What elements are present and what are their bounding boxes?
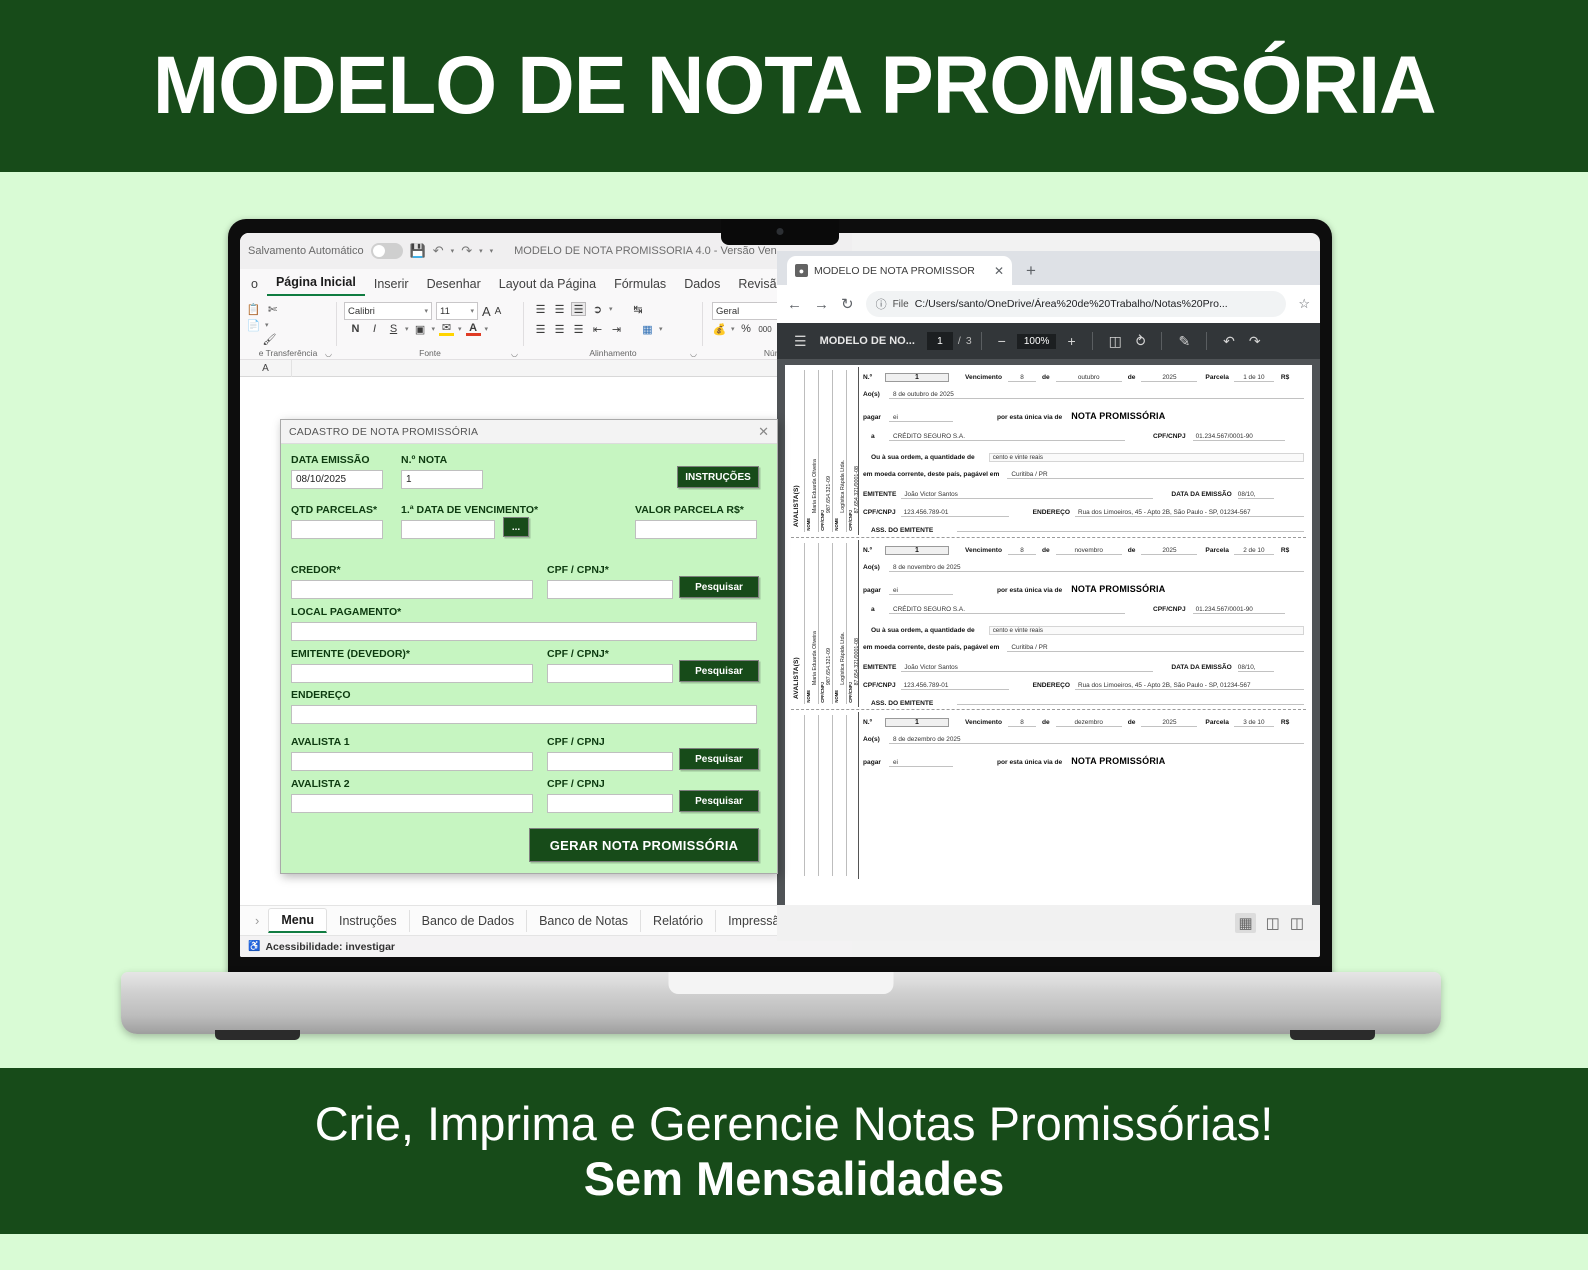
- via-text: por esta única via de: [997, 587, 1062, 594]
- font-name-value: Calibri: [348, 306, 375, 317]
- sheet-tab-menu[interactable]: Menu: [268, 908, 327, 933]
- rotate-icon[interactable]: ⥁: [1129, 333, 1153, 350]
- label-valor-parcela: VALOR PARCELA R$*: [635, 504, 744, 516]
- ribbon-tab-inserir[interactable]: Inserir: [365, 277, 418, 296]
- undo-chevron-down-icon[interactable]: ▾: [451, 247, 455, 255]
- zoom-level[interactable]: 100%: [1017, 334, 1057, 349]
- endereco-label: ENDEREÇO: [1033, 682, 1070, 689]
- orientation-icon[interactable]: ➲: [590, 302, 605, 316]
- laptop-screen: Salvamento Automático 💾 ↶ ▾ ↷ ▾ ▾ MODELO…: [240, 233, 1320, 957]
- customize-quick-access-icon[interactable]: ▾: [490, 247, 494, 255]
- moeda-label: em moeda corrente, deste país, pagável e…: [863, 644, 999, 651]
- aos-value: 8 de dezembro de 2025: [889, 736, 1304, 744]
- currency-label: R$: [1281, 547, 1289, 554]
- hamburger-menu-icon[interactable]: ☰: [787, 333, 814, 350]
- label-avalista-1-cpf: CPF / CPNJ: [547, 736, 605, 748]
- n-label: N.º: [863, 719, 885, 726]
- label-local-pagamento: LOCAL PAGAMENTO*: [291, 606, 401, 618]
- vencimento-ano: 2025: [1141, 547, 1197, 555]
- de-label-2: de: [1128, 547, 1136, 554]
- laptop-lid: Salvamento Automático 💾 ↶ ▾ ↷ ▾ ▾ MODELO…: [228, 219, 1332, 984]
- aos-label: Ao(s): [863, 391, 889, 398]
- redo-icon[interactable]: ↷: [1242, 333, 1268, 350]
- input-qtd-parcelas[interactable]: [291, 520, 383, 539]
- vencimento-label: Vencimento: [965, 547, 1002, 554]
- ink-annotate-icon[interactable]: ✎: [1171, 333, 1197, 350]
- laptop-base: [121, 972, 1441, 1034]
- label-primeira-data-vencimento: 1.ª DATA DE VENCIMENTO*: [401, 504, 538, 516]
- currency-label: R$: [1281, 374, 1289, 381]
- forward-arrow-icon[interactable]: →: [814, 296, 829, 313]
- vencimento-dia: 8: [1008, 719, 1036, 727]
- accessibility-status-text[interactable]: Acessibilidade: investigar: [265, 941, 395, 953]
- input-avalista-2[interactable]: [291, 794, 533, 813]
- label-endereco: ENDEREÇO: [291, 689, 351, 701]
- avalistas-column: AVALISTA(S) NOME Maria Eduarda Oliveira …: [793, 540, 859, 707]
- vencimento-ano: 2025: [1141, 374, 1197, 382]
- ribbon-divider: [523, 302, 524, 346]
- endereco-value: Rua dos Limoeiros, 45 - Apto 2B, São Pau…: [1075, 509, 1304, 517]
- page-title: MODELO DE NOTA PROMISSÓRIA: [153, 45, 1436, 127]
- avalista-2-cpf-value: 87.654.321/0001-08: [854, 638, 860, 685]
- currency-label: R$: [1281, 719, 1289, 726]
- font-name-combo[interactable]: Calibri ▾: [344, 302, 432, 320]
- toolbar-divider: [1092, 332, 1093, 350]
- page-total: 3: [966, 335, 972, 347]
- column-header-a[interactable]: A: [240, 360, 292, 377]
- n-value: 1: [885, 373, 949, 382]
- ribbon-tab-formulas[interactable]: Fórmulas: [605, 277, 675, 296]
- paste-chevron-down-icon[interactable]: ▾: [265, 321, 269, 329]
- parcela-value: 1 de 10: [1234, 374, 1274, 382]
- pesquisar-credor-button[interactable]: Pesquisar: [679, 576, 759, 598]
- avalista-2-nome-key: NOME: [834, 518, 839, 531]
- ribbon-divider: [336, 302, 337, 346]
- input-emitente-cpf[interactable]: [547, 664, 673, 683]
- data-emissao-label: DATA DA EMISSÃO: [1171, 491, 1231, 498]
- pdf-viewer-toolbar: ☰ MODELO DE NO... 1 / 3 − 100% + ◫ ⥁ ✎ ↶: [777, 323, 1320, 359]
- de-label-2: de: [1128, 374, 1136, 381]
- endereco-label: ENDEREÇO: [1033, 509, 1070, 516]
- tagline-line-1: Crie, Imprima e Gerencie Notas Promissór…: [315, 1096, 1274, 1151]
- moeda-value: Curitiba / PR: [1007, 644, 1304, 652]
- emitente-value: João Victor Santos: [901, 664, 1153, 672]
- emitente-cpf-value: 123.456.789-01: [901, 682, 1009, 690]
- close-icon[interactable]: ✕: [758, 424, 769, 440]
- aos-label: Ao(s): [863, 736, 889, 743]
- borders-icon[interactable]: ▣: [413, 322, 428, 336]
- fill-color-chevron-down-icon[interactable]: ▾: [458, 325, 462, 333]
- laptop-foot-left: [215, 1030, 300, 1040]
- decrease-indent-icon[interactable]: ⇤: [590, 322, 605, 336]
- laptop-mockup: Salvamento Automático 💾 ↶ ▾ ↷ ▾ ▾ MODELO…: [0, 172, 1588, 1068]
- font-size-value: 11: [440, 306, 450, 317]
- toolbar-divider: [1206, 332, 1207, 350]
- avalistas-title: AVALISTA(S): [793, 419, 800, 527]
- single-page-view-icon[interactable]: ◫: [1290, 914, 1304, 932]
- laptop-foot-right: [1290, 1030, 1375, 1040]
- pagar-value: ei: [889, 587, 953, 595]
- avalista-1-nome-key: NOME: [806, 518, 811, 531]
- orientation-chevron-down-icon[interactable]: ▾: [609, 305, 613, 313]
- label-emitente-cpf: CPF / CPNJ*: [547, 648, 609, 660]
- emitente-value: João Victor Santos: [901, 491, 1153, 499]
- via-text: por esta única via de: [997, 414, 1062, 421]
- label-credor-cpf: CPF / CPNJ*: [547, 564, 609, 576]
- data-emissao-label: DATA DA EMISSÃO: [1171, 664, 1231, 671]
- excel-document-title: MODELO DE NOTA PROMISSORIA 4.0 - Versão …: [514, 245, 786, 257]
- undo-icon[interactable]: ↶: [433, 243, 444, 259]
- ribbon-group-clipboard: 📋 ✄ 📄 ▾ 🖌 e Transferência ◡: [242, 296, 334, 360]
- autosave-toggle[interactable]: [371, 243, 403, 259]
- font-color-chevron-down-icon[interactable]: ▾: [485, 325, 489, 333]
- avalista-1-nome-key: NOME: [806, 690, 811, 703]
- parcela-value: 3 de 10: [1234, 719, 1274, 727]
- n-value: 1: [885, 718, 949, 727]
- avalistas-title: AVALISTA(S): [793, 591, 800, 699]
- toolbar-divider: [1161, 332, 1162, 350]
- plus-icon[interactable]: +: [1060, 333, 1082, 349]
- percent-format-icon[interactable]: %: [739, 322, 754, 336]
- column-headers: A: [240, 360, 852, 377]
- ribbon-tab-pagina-inicial[interactable]: Página Inicial: [267, 275, 365, 296]
- ordem-value: cento e vinte reais: [989, 626, 1304, 635]
- input-primeira-data-vencimento[interactable]: [401, 520, 495, 539]
- ribbon-tab-desenhar[interactable]: Desenhar: [418, 277, 490, 296]
- credor-cpf-label: CPF/CNPJ: [1153, 606, 1186, 613]
- aos-label: Ao(s): [863, 564, 889, 571]
- cadastro-dialog: CADASTRO DE NOTA PROMISSÓRIA ✕ DATA EMIS…: [280, 419, 778, 874]
- webcam-icon: [777, 228, 784, 235]
- promissory-note-3: N.º 1 Vencimento 8 de dezembro de 2025 P: [791, 709, 1306, 881]
- data-emissao-value: 08/10,: [1238, 491, 1274, 499]
- label-emitente: EMITENTE (DEVEDOR)*: [291, 648, 410, 660]
- chevron-down-icon: ▾: [424, 307, 428, 315]
- underline-button[interactable]: S: [386, 322, 401, 336]
- date-picker-button[interactable]: ...: [503, 517, 529, 537]
- bold-button[interactable]: N: [348, 322, 363, 336]
- redo-icon[interactable]: ↷: [461, 243, 472, 259]
- input-emitente[interactable]: [291, 664, 533, 683]
- pagar-label: pagar: [863, 587, 889, 594]
- parcela-value: 2 de 10: [1234, 547, 1274, 555]
- sheet-tab-bar: › Menu Instruções Banco de Dados Banco d…: [240, 905, 852, 935]
- input-avalista-2-cpf[interactable]: [547, 794, 673, 813]
- de-label-1: de: [1042, 719, 1050, 726]
- data-emissao-value: 08/10,: [1238, 664, 1274, 672]
- parcela-label: Parcela: [1205, 719, 1228, 726]
- ordem-value: cento e vinte reais: [989, 453, 1304, 462]
- avalista-1-cpf-key: CPF/CNPJ: [820, 682, 825, 703]
- label-avalista-2-cpf: CPF / CPNJ: [547, 778, 605, 790]
- n-value: 1: [885, 546, 949, 555]
- sheet-tab-instrucoes[interactable]: Instruções: [327, 910, 410, 932]
- promissory-note-2: AVALISTA(S) NOME Maria Eduarda Oliveira …: [791, 537, 1306, 709]
- format-painter-icon[interactable]: 🖌: [262, 332, 277, 346]
- ribbon-group-label-font: Fonte: [340, 348, 520, 358]
- minus-icon[interactable]: −: [991, 333, 1013, 349]
- page-number-input[interactable]: 1: [927, 332, 953, 350]
- ribbon-group-alignment: ☰ ☰ ☰ ➲ ▾ ↹ ☰ ☰ ☰ ⇤ ⇥: [527, 296, 699, 360]
- avalista-2-cpf-value: 87.654.321/0001-08: [854, 466, 860, 513]
- fill-color-icon[interactable]: ✉: [439, 322, 454, 336]
- n-label: N.º: [863, 374, 885, 381]
- a-label: a: [863, 606, 889, 613]
- credor-cpf-value: 01.234.567/0001-90: [1193, 433, 1285, 441]
- chrome-browser-window: ● MODELO DE NOTA PROMISSOR ✕ + ← → ↻ ⓘ F…: [777, 251, 1320, 941]
- vencimento-mes: novembro: [1056, 547, 1122, 555]
- top-banner: MODELO DE NOTA PROMISSÓRIA: [0, 0, 1588, 172]
- vencimento-mes: dezembro: [1056, 719, 1122, 727]
- credor-cpf-label: CPF/CNPJ: [1153, 433, 1186, 440]
- sheet-tab-banco-de-dados[interactable]: Banco de Dados: [410, 910, 527, 932]
- close-icon[interactable]: ✕: [994, 264, 1004, 278]
- fit-page-icon[interactable]: ◫: [1102, 333, 1129, 350]
- ribbon-divider: [702, 302, 703, 346]
- new-tab-icon[interactable]: +: [1026, 261, 1036, 281]
- star-icon[interactable]: ☆: [1298, 296, 1310, 312]
- avalistas-column: [793, 712, 859, 879]
- promissory-note-1: AVALISTA(S) NOME Maria Eduarda Oliveira …: [791, 365, 1306, 537]
- input-credor-cpf[interactable]: [547, 580, 673, 599]
- cut-icon[interactable]: ✄: [265, 302, 280, 316]
- pesquisar-avalista-2-button[interactable]: Pesquisar: [679, 790, 759, 812]
- dialog-title: CADASTRO DE NOTA PROMISSÓRIA: [289, 426, 478, 438]
- credor-nome: CRÉDITO SEGURO S.A.: [889, 433, 1125, 441]
- avalista-2-cpf-key: CPF/CNPJ: [848, 510, 853, 531]
- shrink-font-icon[interactable]: A: [495, 306, 502, 317]
- reload-icon[interactable]: ↻: [841, 295, 854, 313]
- excel-ribbon-tabs: o Página Inicial Inserir Desenhar Layout…: [240, 269, 852, 296]
- input-avalista-1-cpf[interactable]: [547, 752, 673, 771]
- two-page-view-icon[interactable]: ◫: [1266, 914, 1280, 932]
- tagline-line-2: Sem Mensalidades: [584, 1151, 1005, 1206]
- redo-chevron-down-icon[interactable]: ▾: [479, 247, 483, 255]
- align-center-icon[interactable]: ☰: [552, 322, 567, 336]
- url-scheme-label: File: [893, 299, 909, 310]
- dialog-body: DATA EMISSÃO 08/10/2025 N.º NOTA 1 INSTR…: [281, 444, 777, 875]
- increase-indent-icon[interactable]: ⇥: [609, 322, 624, 336]
- ribbon-group-label-clipboard: e Transferência: [242, 348, 334, 358]
- pdf-viewport[interactable]: AVALISTA(S) NOME Maria Eduarda Oliveira …: [777, 359, 1320, 905]
- ass-emitente-line: [957, 525, 1304, 532]
- browser-tab[interactable]: ● MODELO DE NOTA PROMISSOR ✕: [787, 256, 1012, 285]
- via-text: por esta única via de: [997, 759, 1062, 766]
- align-right-icon[interactable]: ☰: [571, 322, 586, 336]
- avalista-2-nome-key: NOME: [834, 690, 839, 703]
- grid-view-icon[interactable]: ▦: [1235, 913, 1255, 933]
- aos-value: 8 de novembro de 2025: [889, 564, 1304, 572]
- address-bar[interactable]: ⓘ File C:/Users/santo/OneDrive/Área%20de…: [866, 291, 1287, 317]
- input-data-emissao[interactable]: 08/10/2025: [291, 470, 383, 489]
- moeda-value: Curitiba / PR: [1007, 471, 1304, 479]
- ass-emitente-label: ASS. DO EMITENTE: [863, 700, 933, 707]
- url-text: C:/Users/santo/OneDrive/Área%20de%20Trab…: [915, 298, 1277, 310]
- excel-ribbon: 📋 ✄ 📄 ▾ 🖌 e Transferência ◡: [240, 296, 852, 360]
- chevron-down-icon: ▾: [470, 307, 474, 315]
- currency-chevron-down-icon[interactable]: ▾: [731, 325, 735, 333]
- font-dialog-launcher-icon[interactable]: ◡: [511, 349, 518, 358]
- vencimento-mes: outubro: [1056, 374, 1122, 382]
- laptop-base-notch: [669, 972, 894, 994]
- label-avalista-1: AVALISTA 1: [291, 736, 350, 748]
- sheet-nav-right-icon[interactable]: ›: [246, 913, 268, 928]
- info-circle-icon[interactable]: ⓘ: [876, 296, 887, 312]
- align-bottom-icon[interactable]: ☰: [571, 302, 586, 316]
- excel-status-bar: ♿ Acessibilidade: investigar: [240, 935, 852, 957]
- label-credor: CREDOR*: [291, 564, 341, 576]
- vencimento-dia: 8: [1008, 547, 1036, 555]
- de-label-2: de: [1128, 719, 1136, 726]
- dialog-title-bar: CADASTRO DE NOTA PROMISSÓRIA ✕: [281, 420, 777, 444]
- font-size-combo[interactable]: 11 ▾: [436, 302, 478, 320]
- pdf-document-name: MODELO DE NO...: [820, 335, 915, 347]
- ribbon-tab-arquivo[interactable]: o: [242, 277, 267, 296]
- pdf-favicon-icon: ●: [795, 264, 808, 277]
- ribbon-tab-dados[interactable]: Dados: [675, 277, 729, 296]
- sheet-tab-banco-de-notas[interactable]: Banco de Notas: [527, 910, 641, 932]
- a-label: a: [863, 433, 889, 440]
- comma-format-icon[interactable]: 000: [758, 322, 773, 336]
- ribbon-tab-layout-da-pagina[interactable]: Layout da Página: [490, 277, 605, 296]
- undo-icon[interactable]: ↶: [1216, 333, 1242, 350]
- excel-window: Salvamento Automático 💾 ↶ ▾ ↷ ▾ ▾ MODELO…: [240, 233, 852, 957]
- merge-cells-icon[interactable]: ▦: [640, 322, 655, 336]
- autosave-label: Salvamento Automático: [248, 245, 364, 257]
- credor-cpf-value: 01.234.567/0001-90: [1193, 606, 1285, 614]
- align-left-icon[interactable]: ☰: [533, 322, 548, 336]
- input-avalista-1[interactable]: [291, 752, 533, 771]
- emitente-label: EMITENTE: [863, 491, 896, 498]
- de-label-1: de: [1042, 374, 1050, 381]
- endereco-value: Rua dos Limoeiros, 45 - Apto 2B, São Pau…: [1075, 682, 1304, 690]
- input-local-pagamento[interactable]: [291, 622, 757, 641]
- font-color-icon[interactable]: A: [466, 322, 481, 336]
- pagar-value: ei: [889, 414, 953, 422]
- emitente-cpf-label: CPF/CNPJ: [863, 509, 896, 516]
- toolbar-divider: [981, 332, 982, 350]
- input-credor[interactable]: [291, 580, 533, 599]
- borders-chevron-down-icon[interactable]: ▾: [432, 325, 436, 333]
- emitente-label: EMITENTE: [863, 664, 896, 671]
- avalista-2-cpf-key: CPF/CNPJ: [848, 682, 853, 703]
- label-n-nota: N.º NOTA: [401, 454, 447, 466]
- grow-font-icon[interactable]: A: [482, 304, 491, 319]
- nota-promissoria-title: NOTA PROMISSÓRIA: [1071, 584, 1165, 594]
- accessibility-icon[interactable]: ♿: [248, 941, 260, 952]
- align-middle-icon[interactable]: ☰: [552, 302, 567, 316]
- paste-icon[interactable]: 📋: [246, 302, 261, 316]
- credor-nome: CRÉDITO SEGURO S.A.: [889, 606, 1125, 614]
- nota-promissoria-title: NOTA PROMISSÓRIA: [1071, 411, 1165, 421]
- instrucoes-button[interactable]: INSTRUÇÕES: [677, 466, 759, 488]
- paste-dropdown-icon[interactable]: 📄: [246, 318, 261, 332]
- italic-button[interactable]: I: [367, 322, 382, 336]
- ass-emitente-line: [957, 698, 1304, 705]
- browser-tab-strip: ● MODELO DE NOTA PROMISSOR ✕ +: [777, 251, 1320, 285]
- vencimento-dia: 8: [1008, 374, 1036, 382]
- bottom-banner: Crie, Imprima e Gerencie Notas Promissór…: [0, 1068, 1588, 1234]
- currency-format-icon[interactable]: 💰: [712, 322, 727, 336]
- ass-emitente-label: ASS. DO EMITENTE: [863, 527, 933, 534]
- pdf-page: AVALISTA(S) NOME Maria Eduarda Oliveira …: [785, 365, 1312, 905]
- pagar-value: ei: [889, 759, 953, 767]
- parcela-label: Parcela: [1205, 374, 1228, 381]
- pagar-label: pagar: [863, 414, 889, 421]
- aos-value: 8 de outubro de 2025: [889, 391, 1304, 399]
- de-label-1: de: [1042, 547, 1050, 554]
- pdf-bottom-bar: ▦ ◫ ◫: [777, 905, 1320, 941]
- moeda-label: em moeda corrente, deste país, pagável e…: [863, 471, 999, 478]
- avalistas-column: AVALISTA(S) NOME Maria Eduarda Oliveira …: [793, 367, 859, 535]
- nota-promissoria-title: NOTA PROMISSÓRIA: [1071, 756, 1165, 766]
- save-icon[interactable]: 💾: [410, 243, 426, 259]
- label-qtd-parcelas: QTD PARCELAS*: [291, 504, 377, 516]
- ribbon-group-label-alignment: Alinhamento: [527, 348, 699, 358]
- label-data-emissao: DATA EMISSÃO: [291, 454, 370, 466]
- clipboard-dialog-launcher-icon[interactable]: ◡: [325, 349, 332, 358]
- pesquisar-emitente-button[interactable]: Pesquisar: [679, 660, 759, 682]
- vencimento-ano: 2025: [1141, 719, 1197, 727]
- vencimento-label: Vencimento: [965, 374, 1002, 381]
- browser-tab-title: MODELO DE NOTA PROMISSOR: [814, 265, 988, 277]
- gerar-nota-promissoria-button[interactable]: GERAR NOTA PROMISSÓRIA: [529, 828, 759, 862]
- underline-chevron-down-icon[interactable]: ▾: [405, 325, 409, 333]
- ribbon-group-font: Calibri ▾ 11 ▾ A A N I: [340, 296, 520, 360]
- avalista-1-cpf-key: CPF/CNPJ: [820, 510, 825, 531]
- label-avalista-2: AVALISTA 2: [291, 778, 350, 790]
- page-separator: /: [958, 335, 961, 347]
- ordem-label: Ou à sua ordem, a quantidade de: [863, 454, 975, 461]
- sheet-tab-relatorio[interactable]: Relatório: [641, 910, 716, 932]
- ordem-label: Ou à sua ordem, a quantidade de: [863, 627, 975, 634]
- parcela-label: Parcela: [1205, 547, 1228, 554]
- input-endereco[interactable]: [291, 705, 757, 724]
- alignment-dialog-launcher-icon[interactable]: ◡: [690, 349, 697, 358]
- input-valor-parcela[interactable]: [635, 520, 757, 539]
- vencimento-label: Vencimento: [965, 719, 1002, 726]
- emitente-cpf-value: 123.456.789-01: [901, 509, 1009, 517]
- merge-chevron-down-icon[interactable]: ▾: [659, 325, 663, 333]
- pagar-label: pagar: [863, 759, 889, 766]
- browser-toolbar: ← → ↻ ⓘ File C:/Users/santo/OneDrive/Áre…: [777, 285, 1320, 323]
- input-n-nota[interactable]: 1: [401, 470, 483, 489]
- back-arrow-icon[interactable]: ←: [787, 296, 802, 313]
- wrap-text-icon[interactable]: ↹: [631, 302, 646, 316]
- number-format-value: Geral: [716, 306, 739, 317]
- emitente-cpf-label: CPF/CNPJ: [863, 682, 896, 689]
- n-label: N.º: [863, 547, 885, 554]
- pesquisar-avalista-1-button[interactable]: Pesquisar: [679, 748, 759, 770]
- align-top-icon[interactable]: ☰: [533, 302, 548, 316]
